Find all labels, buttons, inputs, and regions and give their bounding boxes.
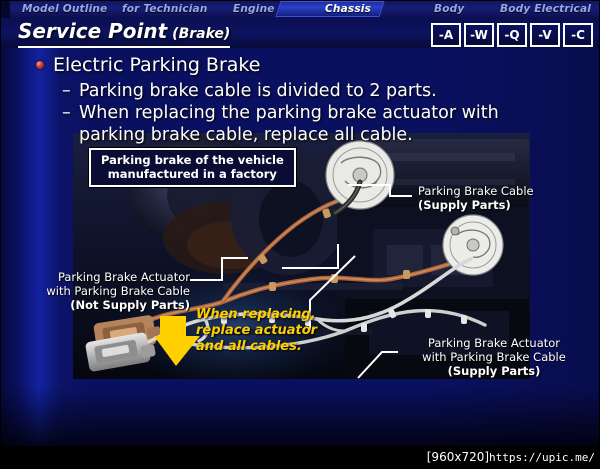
footer-info: [960x720]https://upic.me/ xyxy=(427,450,595,464)
callout-actuator-supply-line3: (Supply Parts) xyxy=(404,364,584,378)
slide-root: Model Outline for Technician Engine Chas… xyxy=(0,0,600,469)
sub-bullet-1-label: Parking brake cable is divided to 2 part… xyxy=(79,81,437,101)
sub-bullet-3: parking brake cable, replace all cable. xyxy=(79,125,413,146)
callout-actuator-not-supply-line2: with Parking Brake Cable xyxy=(20,284,190,298)
callout-actuator-supply: Parking Brake Actuator with Parking Brak… xyxy=(404,336,584,378)
bullet-main: Electric Parking Brake xyxy=(36,54,260,76)
footer-resolution: [960x720] xyxy=(427,450,489,464)
callout-actuator-supply-line2: with Parking Brake Cable xyxy=(404,350,584,364)
bullet-main-label: Electric Parking Brake xyxy=(53,54,260,76)
callout-actuator-not-supply-line1: Parking Brake Actuator xyxy=(20,270,190,284)
sub-bullet-3-label: parking brake cable, replace all cable. xyxy=(79,125,413,145)
callout-actuator-not-supply-line3: (Not Supply Parts) xyxy=(20,298,190,312)
sub-bullet-1: –Parking brake cable is divided to 2 par… xyxy=(62,81,437,102)
callout-actuator-supply-line1: Parking Brake Actuator xyxy=(404,336,584,350)
dash-icon: – xyxy=(62,103,79,124)
callout-actuator-not-supply: Parking Brake Actuator with Parking Brak… xyxy=(20,270,190,312)
callout-cable-supply-line2: (Supply Parts) xyxy=(418,198,534,212)
callout-factory-line2: manufactured in a factory xyxy=(101,167,284,181)
sub-bullet-2: –When replacing the parking brake actuat… xyxy=(62,103,499,124)
callout-cable-supply: Parking Brake Cable (Supply Parts) xyxy=(418,184,534,212)
callout-cable-supply-line1: Parking Brake Cable xyxy=(418,184,534,198)
bullet-dot-icon xyxy=(36,61,44,69)
warning-line1: When replacing, xyxy=(196,307,317,323)
footer-url[interactable]: https://upic.me/ xyxy=(489,451,595,464)
warning-line3: and all cables. xyxy=(196,339,317,355)
sub-bullet-2-label: When replacing the parking brake actuato… xyxy=(79,103,499,123)
warning-text: When replacing, replace actuator and all… xyxy=(196,307,317,355)
footer-bar: [960x720]https://upic.me/ xyxy=(0,446,600,469)
dash-icon: – xyxy=(62,81,79,102)
callout-factory-box: Parking brake of the vehicle manufacture… xyxy=(89,148,296,187)
warning-line2: replace actuator xyxy=(196,323,317,339)
callout-factory-line1: Parking brake of the vehicle xyxy=(101,153,284,167)
